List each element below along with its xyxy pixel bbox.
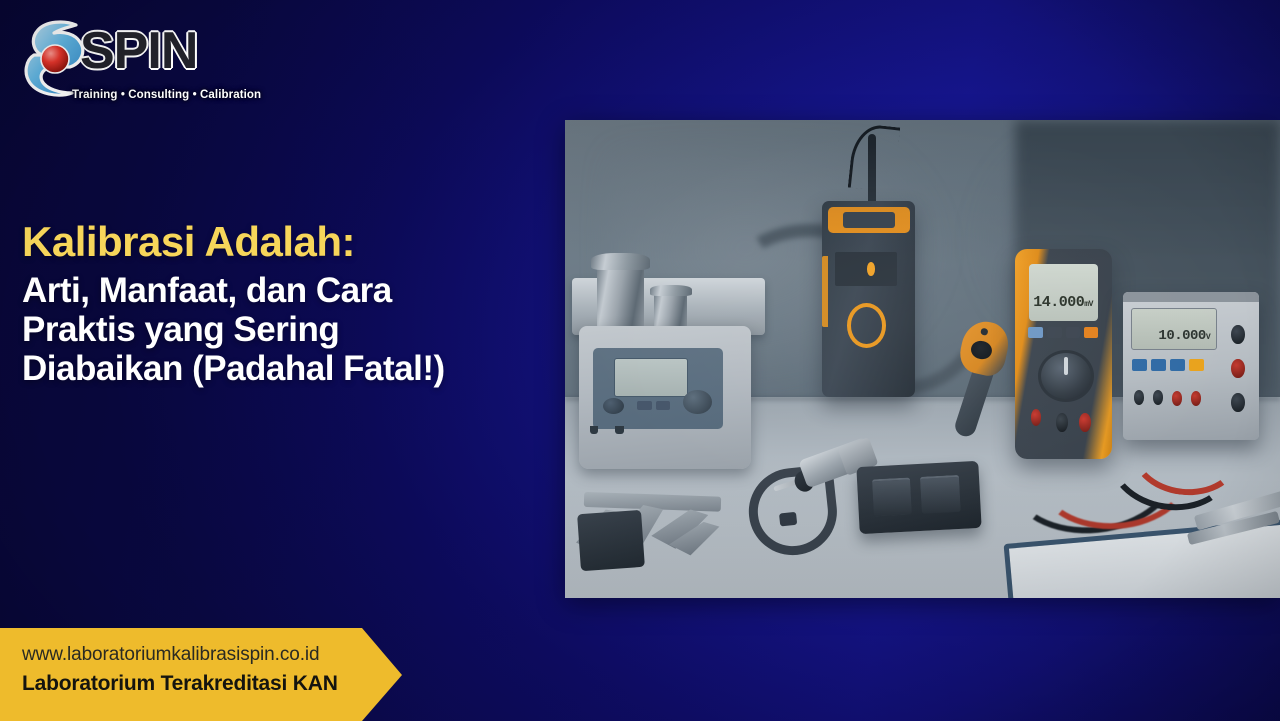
multimeter-button-3: [1066, 327, 1080, 339]
case-slot-2: [920, 475, 961, 514]
data-logger-device: [822, 201, 915, 397]
brand-logo[interactable]: SPIN Training • Consulting • Calibration: [22, 13, 212, 105]
bench-reading-unit: V: [1206, 333, 1210, 342]
bench-reading-value: 10.000: [1158, 328, 1205, 344]
headline-line-4: Diabaikan (Padahal Fatal!): [22, 349, 562, 388]
ir-thermometer-lens: [969, 339, 993, 361]
headline-line-3: Praktis yang Sering: [22, 310, 562, 349]
promo-banner-canvas: SPIN Training • Consulting • Calibration…: [0, 0, 1280, 721]
calibration-weight-small-knob: [650, 285, 692, 296]
bench-jack-7: [1231, 393, 1245, 412]
accreditation-text: Laboratorium Terakreditasi KAN: [22, 672, 338, 696]
multimeter-dial-pointer: [1064, 357, 1068, 376]
logger-ring-button: [847, 303, 887, 348]
bench-top-panel: [1123, 292, 1259, 302]
balance-knob: [683, 390, 712, 414]
logger-side-strip: [822, 256, 828, 327]
bench-button-2: [1151, 359, 1166, 371]
headline-line-1: Kalibrasi Adalah:: [22, 218, 562, 265]
bench-jack-3: [1172, 391, 1183, 406]
balance-lcd-screen: [614, 358, 688, 397]
multimeter-reading-value: 14.000: [1033, 294, 1084, 311]
balance-button-2: [656, 401, 670, 410]
brand-tagline: Training • Consulting • Calibration: [72, 89, 261, 101]
calibration-instruments-photo: 14.000mV 10.000V: [565, 120, 1280, 598]
balance-foot-right: [615, 426, 624, 435]
multimeter-lcd-screen: 14.000mV: [1029, 264, 1098, 321]
micrometer-lock: [778, 512, 797, 527]
website-url[interactable]: www.laboratoriumkalibrasispin.co.id: [22, 644, 319, 666]
bench-reading: 10.000V: [1158, 328, 1210, 344]
multimeter-rotary-dial: [1038, 350, 1094, 402]
case-slot-1: [872, 478, 913, 517]
bench-jack-5: [1231, 325, 1245, 344]
balance-front-panel: [593, 348, 723, 428]
multimeter-button-1: [1028, 327, 1043, 339]
multimeter-button-2: [1047, 327, 1061, 339]
bench-button-4: [1189, 359, 1204, 371]
multimeter-reading-unit: mV: [1084, 300, 1093, 309]
balance-foot-left: [590, 426, 599, 435]
bench-jack-1: [1134, 390, 1145, 405]
ir-thermometer-indicator: [980, 328, 989, 336]
bench-jack-2: [1153, 390, 1164, 405]
precision-balance: [579, 326, 751, 469]
headline-line-2: Arti, Manfaat, dan Cara: [22, 271, 562, 310]
bench-lcd-screen: 10.000V: [1131, 308, 1217, 350]
logger-top-inset: [843, 212, 895, 228]
brand-wordmark: SPIN: [80, 25, 197, 77]
logger-antenna: [868, 134, 876, 210]
bench-jack-4: [1191, 391, 1202, 406]
bench-button-1: [1132, 359, 1147, 371]
instrument-case: [856, 461, 981, 534]
bench-button-3: [1170, 359, 1185, 371]
calibration-weight-large: [597, 263, 643, 330]
bench-jack-6: [1231, 359, 1245, 378]
multimeter-reading: 14.000mV: [1033, 294, 1093, 311]
website-banner[interactable]: www.laboratoriumkalibrasispin.co.id Labo…: [0, 628, 402, 721]
logger-top-bezel: [828, 207, 910, 232]
headline-block: Kalibrasi Adalah: Arti, Manfaat, dan Car…: [22, 218, 562, 389]
black-accessory-block: [577, 510, 645, 572]
balance-button-1: [637, 401, 651, 410]
multimeter-button-4: [1084, 327, 1098, 339]
multimeter-jack-red: [1031, 409, 1042, 426]
balance-button-3: [603, 398, 624, 414]
calibration-weight-large-knob: [591, 253, 650, 270]
